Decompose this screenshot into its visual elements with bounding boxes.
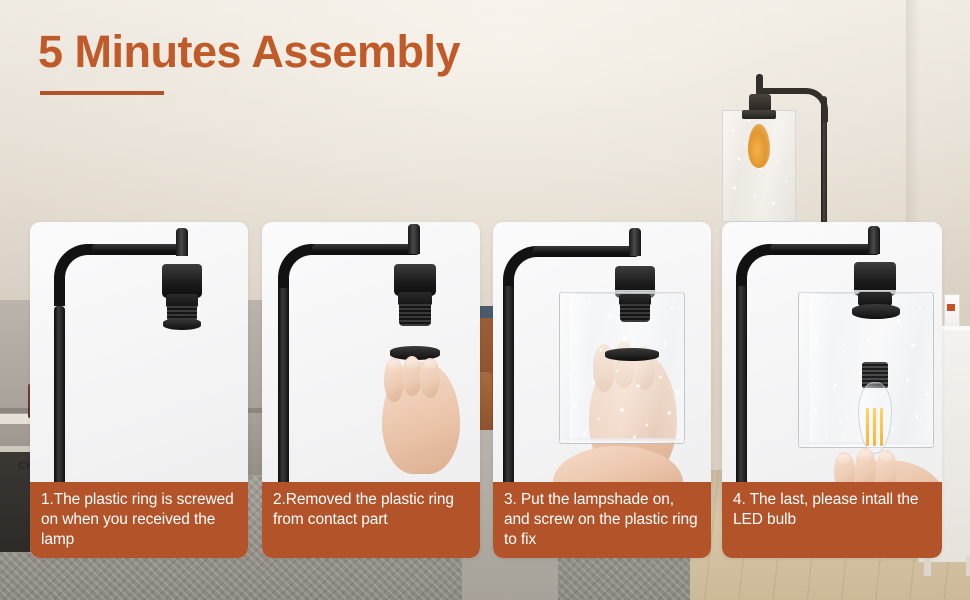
fingernail bbox=[406, 358, 419, 368]
lamp-arm bbox=[770, 244, 880, 255]
fingernail bbox=[880, 452, 893, 462]
bulb-filament bbox=[880, 408, 883, 446]
step-caption-4: 4. The last, please intall the LED bulb bbox=[722, 482, 942, 558]
plastic-ring-fixed bbox=[852, 304, 900, 319]
fingernail bbox=[388, 360, 401, 370]
lamp-arm-stub bbox=[868, 226, 880, 254]
lamp-arm-stub bbox=[756, 74, 763, 96]
lamp-arm-stub bbox=[176, 228, 188, 256]
plastic-ring-attached bbox=[163, 318, 201, 330]
step-caption-1: 1.The plastic ring is screwed on when yo… bbox=[30, 482, 248, 558]
lamp-arm bbox=[312, 244, 420, 255]
step-panel-2: 2.Removed the plastic ring from contact … bbox=[262, 222, 480, 558]
edison-bulb-glow bbox=[748, 124, 770, 168]
lamp-elbow bbox=[54, 244, 98, 306]
shade-bottom-rim bbox=[559, 438, 685, 443]
fingernail bbox=[859, 450, 872, 460]
socket-cap bbox=[162, 264, 202, 298]
step-caption-2: 2.Removed the plastic ring from contact … bbox=[262, 482, 480, 558]
sideboard-leg-right bbox=[966, 556, 970, 576]
page-title: 5 Minutes Assembly bbox=[38, 26, 460, 78]
step-panel-3: 3. Put the lampshade on, and screw on th… bbox=[493, 222, 711, 558]
bulb-filament bbox=[873, 408, 876, 446]
bulb-filament bbox=[866, 408, 869, 446]
lamp-arm bbox=[92, 244, 188, 255]
step-panel-4: 4. The last, please intall the LED bulb bbox=[722, 222, 942, 558]
title-underline-rule bbox=[40, 91, 164, 95]
fingernail bbox=[838, 454, 851, 464]
shade-collar bbox=[742, 110, 776, 119]
lamp-arm-stub bbox=[408, 224, 420, 254]
step-panel-1: 1.The plastic ring is screwed on when yo… bbox=[30, 222, 248, 558]
sideboard-leg-left bbox=[924, 556, 931, 576]
lamp-arm bbox=[533, 246, 639, 257]
fingernail bbox=[424, 360, 436, 369]
book-cover-mark bbox=[947, 304, 955, 311]
socket-contact-part bbox=[399, 304, 431, 326]
socket-thread bbox=[620, 304, 650, 322]
lamp-arm-stub bbox=[629, 228, 641, 256]
step-caption-3: 3. Put the lampshade on, and screw on th… bbox=[493, 482, 711, 558]
assembly-instruction-graphic: CH 5 Minutes Assembly 1.The plastic ring… bbox=[0, 0, 970, 600]
plastic-ring bbox=[605, 348, 659, 361]
